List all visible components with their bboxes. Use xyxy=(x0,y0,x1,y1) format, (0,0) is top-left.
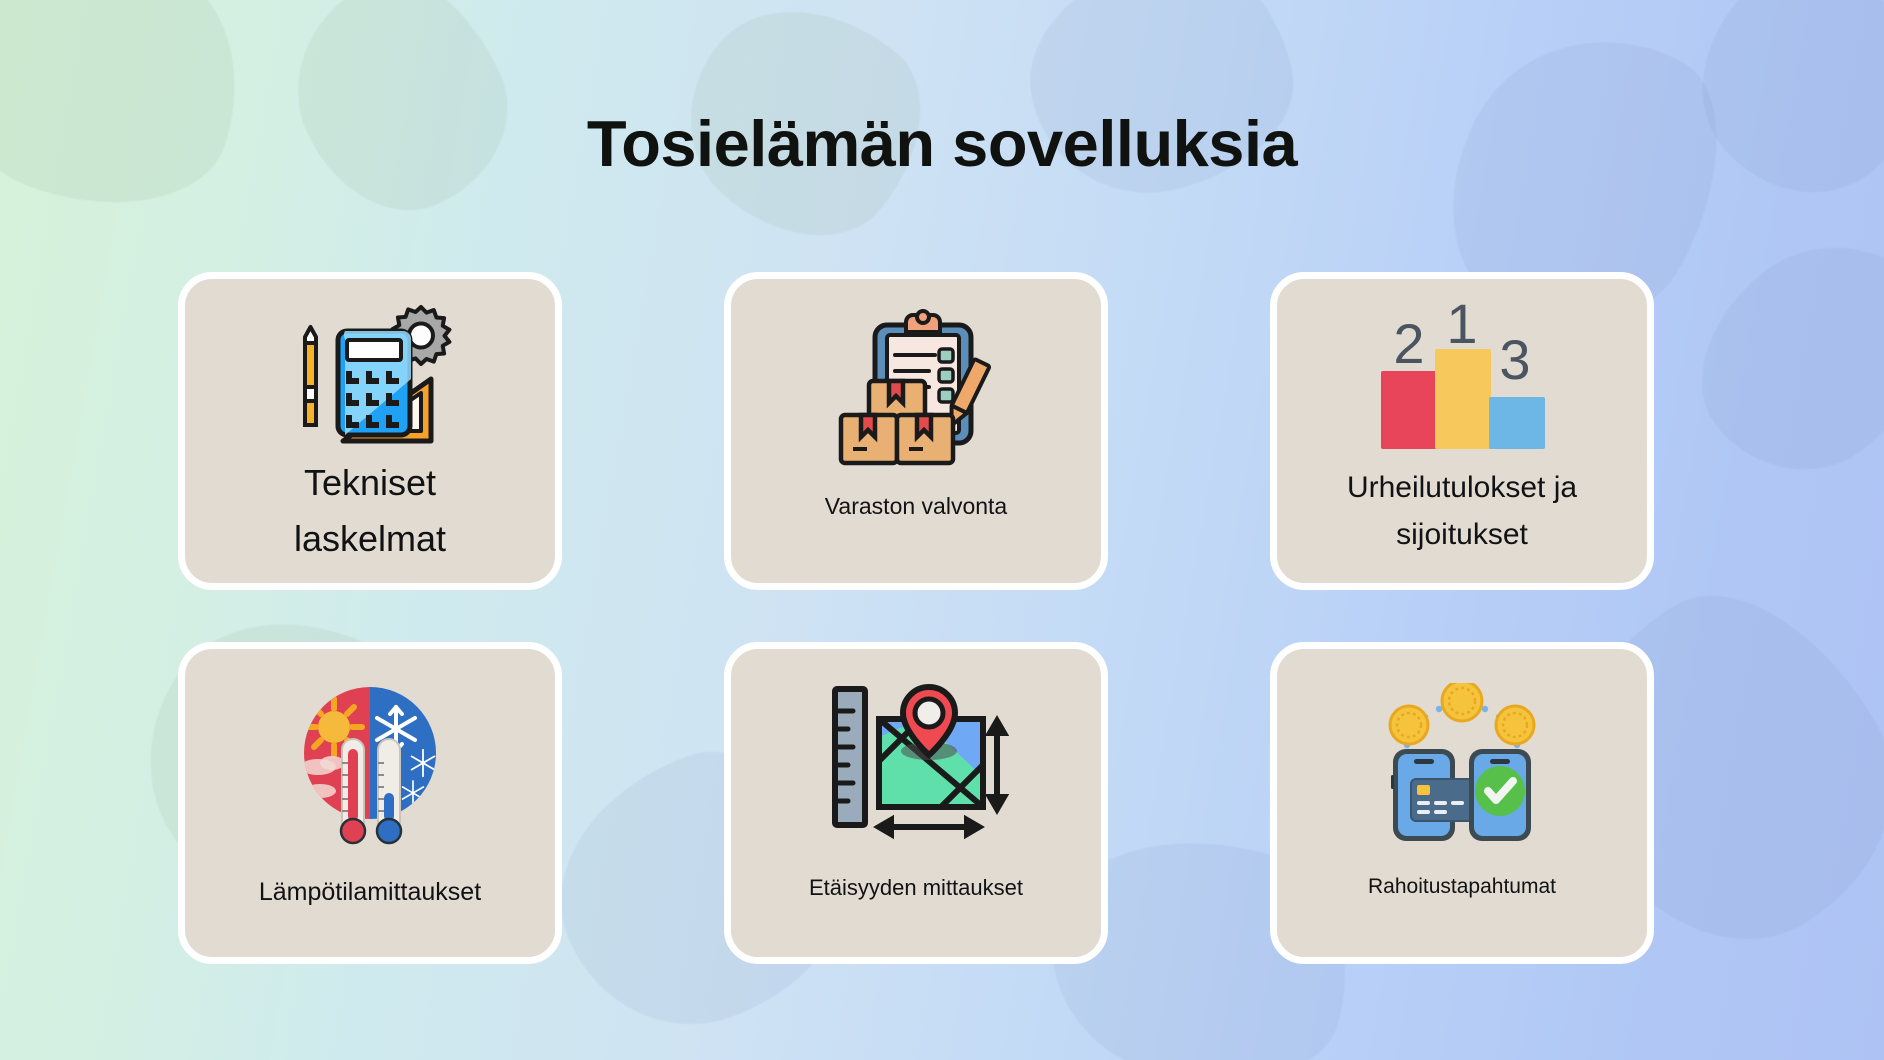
card-rahoitustapahtumat[interactable]: Rahoitustapahtumat xyxy=(1270,642,1654,964)
card-varaston-valvonta[interactable]: Varaston valvonta xyxy=(724,272,1108,590)
card-grid: Tekniset laskelmat xyxy=(178,272,1706,964)
podium-bar-2 xyxy=(1381,371,1437,449)
card-label: Urheilutulokset ja sijoitukset xyxy=(1333,465,1591,558)
mobile-payment-coins-icon xyxy=(1367,683,1557,843)
card-label: Varaston valvonta xyxy=(811,489,1021,525)
podium-rank-3: 3 xyxy=(1499,328,1530,391)
card-urheilutulokset[interactable]: 2 1 3 Urheilutulokset ja sijoitukset xyxy=(1270,272,1654,590)
podium-bar-1 xyxy=(1435,349,1491,449)
podium-ranking-icon: 2 1 3 xyxy=(1367,301,1557,453)
card-label: Tekniset laskelmat xyxy=(280,455,460,567)
podium-bar-3 xyxy=(1489,397,1545,449)
card-etaisyyden-mittaukset[interactable]: Etäisyyden mittaukset xyxy=(724,642,1108,964)
card-label: Lämpötilamittaukset xyxy=(245,873,495,912)
card-label: Etäisyyden mittaukset xyxy=(795,871,1037,905)
page-title: Tosielämän sovelluksia xyxy=(0,108,1884,180)
boxes-clipboard-icon xyxy=(827,309,1005,467)
card-tekniset-laskelmat[interactable]: Tekniset laskelmat xyxy=(178,272,562,590)
podium-rank-1: 1 xyxy=(1446,301,1477,355)
card-label: Rahoitustapahtumat xyxy=(1354,871,1570,904)
podium-rank-2: 2 xyxy=(1393,312,1424,375)
calculator-gear-pencil-icon xyxy=(283,301,458,449)
card-lampotilamittaukset[interactable]: Lämpötilamittaukset xyxy=(178,642,562,964)
hot-cold-thermometer-icon xyxy=(280,681,460,851)
slide-canvas: Tosielämän sovelluksia xyxy=(0,0,1884,1060)
ruler-map-pin-icon xyxy=(821,677,1011,849)
